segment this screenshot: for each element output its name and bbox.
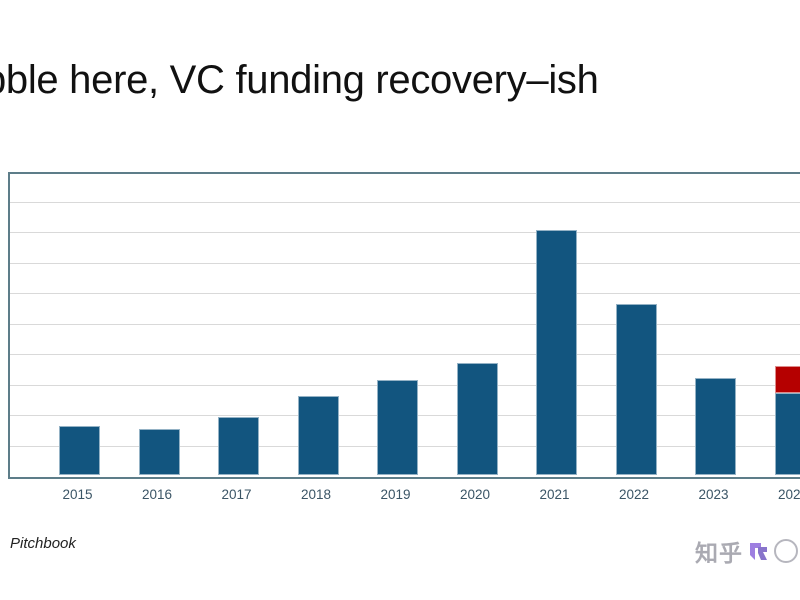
bar-segment-blue[interactable] xyxy=(536,230,577,475)
chart-bars xyxy=(10,174,800,475)
zhihu-mark-icon xyxy=(746,539,771,564)
x-axis-label: 2021 xyxy=(520,487,590,502)
x-axis-label: 2023 xyxy=(679,487,749,502)
x-axis-label: 2017 xyxy=(202,487,272,502)
bar-segment-blue[interactable] xyxy=(377,380,418,475)
bar-segment-blue[interactable] xyxy=(139,429,180,475)
chart-plot-area xyxy=(8,172,800,479)
bar-segment-blue[interactable] xyxy=(616,304,657,475)
x-axis-label: 2022 xyxy=(599,487,669,502)
x-axis-label: 2020 xyxy=(440,487,510,502)
x-axis-label: 2024 xyxy=(758,487,800,502)
bar-chart xyxy=(8,172,800,479)
bar-segment-blue[interactable] xyxy=(298,396,339,475)
x-axis-labels: 2015201620172018201920202021202220232024 xyxy=(8,487,800,509)
bar-segment-blue[interactable] xyxy=(695,378,736,475)
x-axis-label: 2019 xyxy=(361,487,431,502)
bar-segment-blue[interactable] xyxy=(218,417,259,475)
x-axis-label: 2018 xyxy=(281,487,351,502)
zhihu-logo-icon: 知乎 xyxy=(695,534,743,568)
page-title: ubble here, VC funding recovery–ish xyxy=(0,58,722,102)
circle-badge-icon xyxy=(774,539,798,563)
zhihu-watermark: 知乎 xyxy=(695,534,798,568)
bar-segment-blue[interactable] xyxy=(59,426,100,475)
chart-source-label: Pitchbook xyxy=(10,535,76,552)
x-axis-label: 2015 xyxy=(43,487,113,502)
bar-segment-red[interactable] xyxy=(775,366,800,394)
bar-segment-blue[interactable] xyxy=(775,393,800,475)
x-axis-label: 2016 xyxy=(122,487,192,502)
bar-segment-blue[interactable] xyxy=(457,363,498,475)
slide-canvas: ubble here, VC funding recovery–ish 2015… xyxy=(0,0,800,600)
